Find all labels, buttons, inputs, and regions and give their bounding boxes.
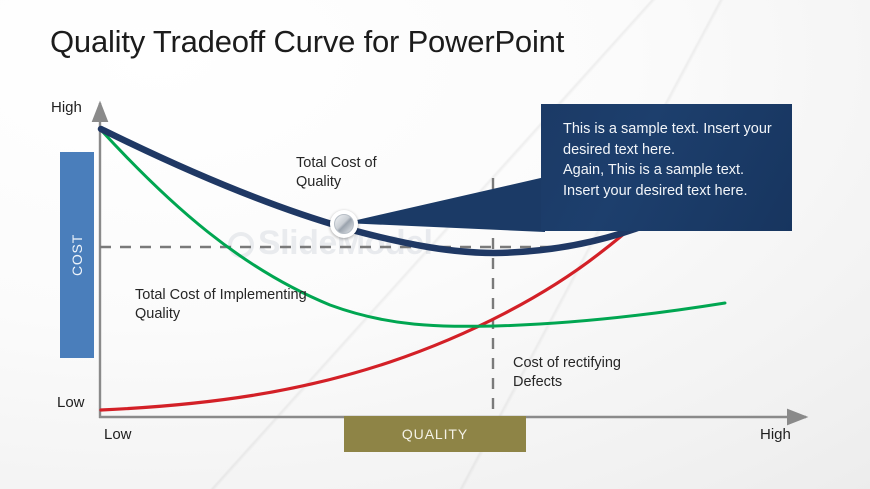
cost-axis-band-label: COST <box>60 152 94 358</box>
x-axis-low-label: Low <box>104 426 132 443</box>
x-axis-high-label: High <box>760 426 791 443</box>
cost-axis-band: COST <box>60 152 94 358</box>
callout-box[interactable]: This is a sample text. Insert your desir… <box>541 104 792 231</box>
quality-axis-band: QUALITY <box>344 416 526 452</box>
callout-text: This is a sample text. Insert your desir… <box>563 119 778 201</box>
quality-axis-band-label: QUALITY <box>402 426 468 442</box>
curve-point-marker-inner <box>334 214 354 234</box>
curve-point-marker[interactable] <box>330 210 358 238</box>
slide-canvas: Quality Tradeoff Curve for PowerPoint Sl… <box>0 0 870 489</box>
label-total-cost-implementing: Total Cost of Implementing Quality <box>135 286 307 324</box>
y-axis-high-label: High <box>51 99 82 116</box>
label-total-cost-of-quality: Total Cost of Quality <box>296 154 377 192</box>
y-axis-low-label: Low <box>57 394 85 411</box>
label-cost-rectifying-defects: Cost of rectifying Defects <box>513 354 621 392</box>
